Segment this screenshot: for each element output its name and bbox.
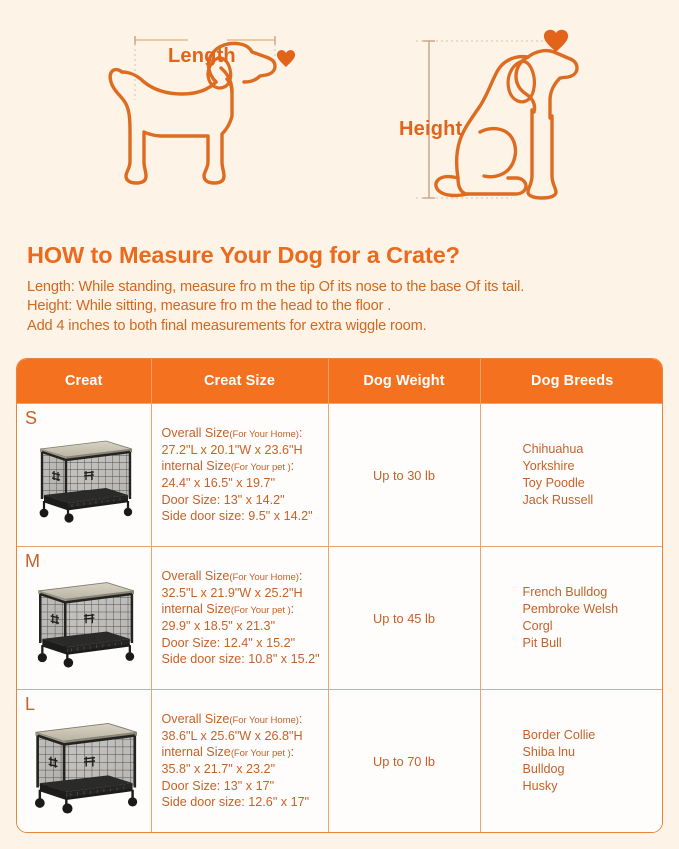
breed-item: Corgl	[523, 618, 664, 635]
crate-cell-medium: M	[17, 547, 151, 690]
door-size-s: Door Size: 13" x 14.2"	[162, 492, 322, 509]
table-row: M	[17, 547, 663, 690]
breed-item: Jack Russell	[523, 492, 664, 509]
size-spec-cell-small: Overall Size(For Your Home): 27.2"L x 20…	[151, 404, 328, 547]
instruction-line-height: Height: While sitting, measure fro m the…	[27, 297, 657, 316]
length-diagram	[100, 0, 400, 220]
dog-crate-small-image	[28, 427, 140, 523]
heart-icon	[277, 50, 295, 67]
internal-size-note-l: (For Your pet )	[231, 748, 291, 759]
breed-item: Yorkshire	[523, 458, 664, 475]
side-door-size-l: Side door size: 12.6" x 17"	[162, 794, 322, 811]
instructions-block: HOW to Measure Your Dog for a Crate? Len…	[27, 243, 657, 336]
overall-size-note-s: (For Your Home)	[229, 429, 298, 440]
size-letter-s: S	[25, 408, 37, 429]
internal-size-label-s: internal Size	[162, 459, 231, 473]
overall-size-value-m: 32.5"L x 21.9"W x 25.2"H	[162, 585, 322, 602]
dog-weight-cell-small: Up to 30 lb	[328, 404, 480, 547]
table-row: S	[17, 404, 663, 547]
dog-crate-medium-image	[25, 568, 143, 668]
overall-size-value-s: 27.2"L x 20.1"W x 23.6"H	[162, 442, 322, 459]
breed-item: Border Collie	[523, 727, 664, 744]
table-header-row: Creat Creat Size Dog Weight Dog Breeds	[17, 359, 663, 404]
dog-weight-cell-medium: Up to 45 lb	[328, 547, 480, 690]
dog-breeds-cell-medium: French Bulldog Pembroke Welsh Corgl Pit …	[480, 547, 663, 690]
door-size-l: Door Size: 13" x 17"	[162, 778, 322, 795]
crate-cell-large: L	[17, 690, 151, 833]
side-door-size-s: Side door size: 9.5" x 14.2"	[162, 508, 322, 525]
instruction-line-wiggle: Add 4 inches to both final measurements …	[27, 317, 657, 336]
internal-size-value-s: 24.4" x 16.5" x 19.7"	[162, 475, 322, 492]
heart-icon	[544, 30, 568, 52]
dog-weight-cell-large: Up to 70 lb	[328, 690, 480, 833]
dog-crate-large-image	[21, 708, 147, 814]
breed-item: Pembroke Welsh	[523, 601, 664, 618]
internal-size-label-l: internal Size	[162, 745, 231, 759]
column-header-dog-weight: Dog Weight	[328, 359, 480, 404]
size-spec-cell-medium: Overall Size(For Your Home): 32.5"L x 21…	[151, 547, 328, 690]
breed-item: Toy Poodle	[523, 475, 664, 492]
overall-size-label-m: Overall Size	[162, 569, 230, 583]
internal-size-note-s: (For Your pet )	[231, 462, 291, 473]
height-diagram	[392, 0, 679, 220]
size-letter-l: L	[25, 694, 35, 715]
page-title: HOW to Measure Your Dog for a Crate?	[27, 243, 657, 269]
breed-item: Bulldog	[523, 761, 664, 778]
breed-item: Pit Bull	[523, 635, 664, 652]
breed-item: French Bulldog	[523, 584, 664, 601]
internal-size-label-m: internal Size	[162, 602, 231, 616]
column-header-crate: Creat	[17, 359, 151, 404]
overall-size-note-l: (For Your Home)	[229, 715, 298, 726]
overall-size-label-s: Overall Size	[162, 426, 230, 440]
dog-breeds-cell-small: Chihuahua Yorkshire Toy Poodle Jack Russ…	[480, 404, 663, 547]
crate-cell-small: S	[17, 404, 151, 547]
measurement-illustration: Length Height	[0, 0, 679, 228]
size-letter-m: M	[25, 551, 40, 572]
door-size-m: Door Size: 12.4" x 15.2"	[162, 635, 322, 652]
side-door-size-m: Side door size: 10.8" x 15.2"	[162, 651, 322, 668]
dog-sitting-side-icon	[392, 0, 679, 220]
overall-size-note-m: (For Your Home)	[229, 572, 298, 583]
size-spec-cell-large: Overall Size(For Your Home): 38.6"L x 25…	[151, 690, 328, 833]
crate-size-table: Creat Creat Size Dog Weight Dog Breeds S	[16, 358, 663, 833]
breed-item: Chihuahua	[523, 441, 664, 458]
dog-breeds-cell-large: Border Collie Shiba lnu Bulldog Husky	[480, 690, 663, 833]
length-label: Length	[168, 45, 236, 68]
overall-size-value-l: 38.6"L x 25.6"W x 26.8"H	[162, 728, 322, 745]
breed-item: Husky	[523, 778, 664, 795]
column-header-dog-breeds: Dog Breeds	[480, 359, 663, 404]
internal-size-value-l: 35.8" x 21.7" x 23.2"	[162, 761, 322, 778]
internal-size-value-m: 29.9" x 18.5" x 21.3"	[162, 618, 322, 635]
table-row: L	[17, 690, 663, 833]
breed-item: Shiba lnu	[523, 744, 664, 761]
overall-size-label-l: Overall Size	[162, 712, 230, 726]
column-header-crate-size: Creat Size	[151, 359, 328, 404]
instruction-line-length: Length: While standing, measure fro m th…	[27, 278, 657, 297]
height-label: Height	[399, 118, 462, 141]
dog-standing-side-icon	[100, 0, 400, 220]
internal-size-note-m: (For Your pet )	[231, 605, 291, 616]
